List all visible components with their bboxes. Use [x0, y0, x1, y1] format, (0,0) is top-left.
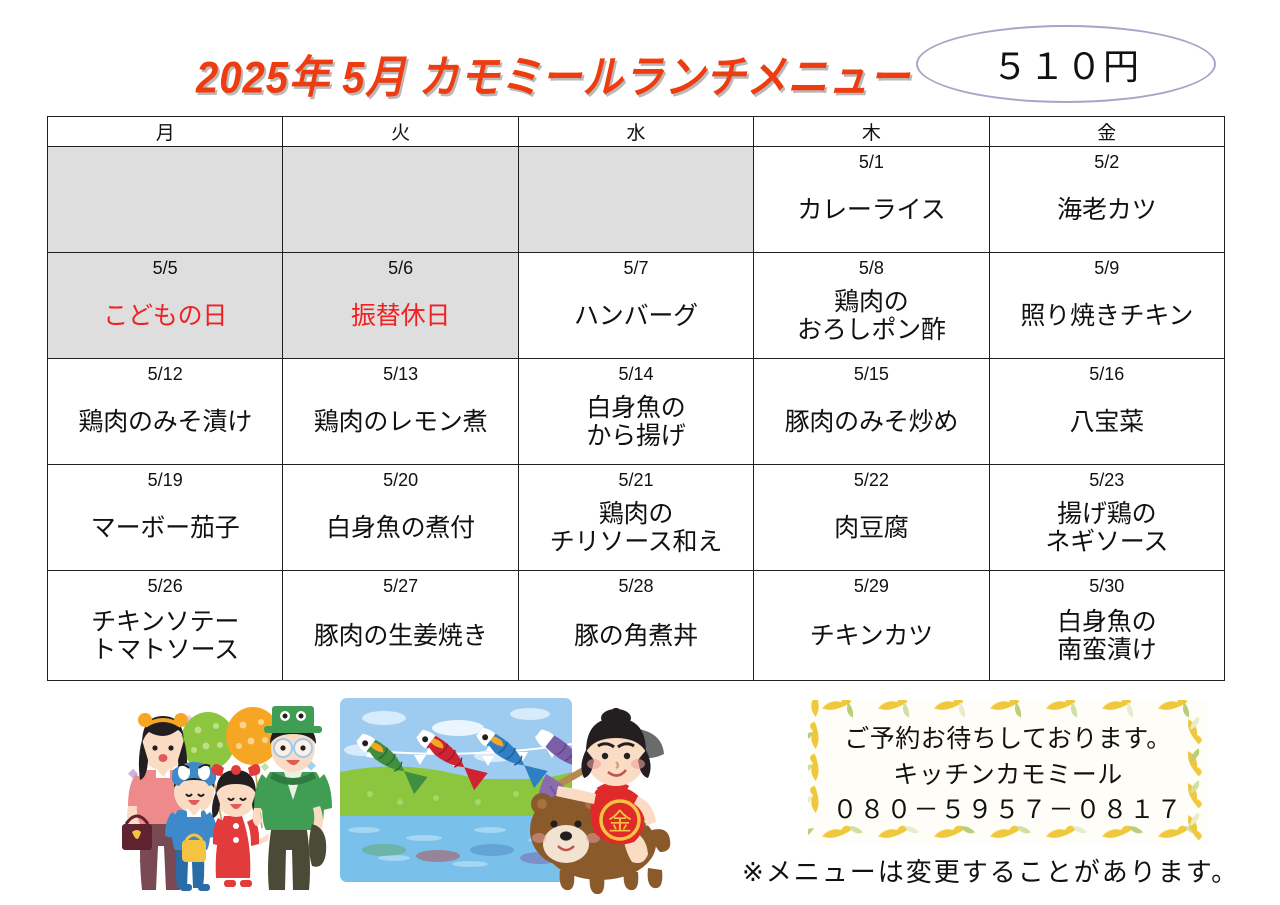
calendar-cell[interactable]: 5/19マーボー茄子 — [48, 465, 283, 571]
calendar-cell[interactable]: 5/30白身魚の 南蛮漬け — [989, 571, 1224, 681]
calendar-cell[interactable]: 5/6振替休日 — [283, 253, 518, 359]
page-title: 2025年 5月 カモミールランチメニュー — [196, 41, 910, 106]
calendar-week-row: 5/1カレーライス5/2海老カツ — [48, 147, 1225, 253]
contact-line-1: ご予約お待ちしております。 — [814, 722, 1202, 758]
date-label: 5/7 — [519, 253, 753, 279]
dish-name: チキンカツ — [754, 597, 988, 680]
family-with-balloons-icon — [112, 700, 342, 896]
calendar-cell[interactable] — [518, 147, 753, 253]
dish-name: 揚げ鶏の ネギソース — [990, 491, 1224, 570]
calendar-cell-inner: 5/29チキンカツ — [754, 571, 988, 680]
calendar-cell[interactable]: 5/27豚肉の生姜焼き — [283, 571, 518, 681]
calendar-cell-inner: 5/7ハンバーグ — [519, 253, 753, 358]
weekday-header-tue: 火 — [283, 117, 518, 147]
date-label: 5/14 — [519, 359, 753, 385]
calendar-cell[interactable]: 5/28豚の角煮丼 — [518, 571, 753, 681]
calendar-cell-inner — [283, 147, 517, 252]
date-label: 5/30 — [990, 571, 1224, 597]
date-label: 5/26 — [48, 571, 282, 597]
weekday-header-row: 月 火 水 木 金 — [48, 117, 1225, 147]
dish-name — [283, 173, 517, 252]
price-badge: ５１０円 — [916, 25, 1216, 103]
contact-line-2: キッチンカモミール — [814, 758, 1202, 794]
calendar-cell[interactable] — [48, 147, 283, 253]
calendar-cell[interactable]: 5/15豚肉のみそ炒め — [754, 359, 989, 465]
contact-text-block: ご予約お待ちしております。 キッチンカモミール ０８０－５９５７－０８１７ — [814, 722, 1202, 829]
calendar-cell[interactable]: 5/9照り焼きチキン — [989, 253, 1224, 359]
dish-name — [519, 173, 753, 252]
calendar-cell[interactable]: 5/7ハンバーグ — [518, 253, 753, 359]
calendar-cell[interactable]: 5/1カレーライス — [754, 147, 989, 253]
dish-name: 鶏肉のレモン煮 — [283, 385, 517, 464]
dish-name: カレーライス — [754, 173, 988, 252]
date-label — [48, 147, 282, 173]
date-label: 5/15 — [754, 359, 988, 385]
calendar-cell[interactable]: 5/5こどもの日 — [48, 253, 283, 359]
calendar-cell-inner: 5/9照り焼きチキン — [990, 253, 1224, 358]
calendar-cell-inner: 5/23揚げ鶏の ネギソース — [990, 465, 1224, 570]
dish-name: 豚肉の生姜焼き — [283, 597, 517, 680]
date-label: 5/29 — [754, 571, 988, 597]
date-label: 5/16 — [990, 359, 1224, 385]
dish-name: 鶏肉のみそ漬け — [48, 385, 282, 464]
date-label: 5/22 — [754, 465, 988, 491]
calendar-week-row: 5/12鶏肉のみそ漬け5/13鶏肉のレモン煮5/14白身魚の から揚げ5/15豚… — [48, 359, 1225, 465]
calendar-cell[interactable]: 5/26チキンソテー トマトソース — [48, 571, 283, 681]
calendar-cell[interactable]: 5/2海老カツ — [989, 147, 1224, 253]
calendar-cell[interactable] — [283, 147, 518, 253]
calendar-cell-inner: 5/1カレーライス — [754, 147, 988, 252]
date-label: 5/9 — [990, 253, 1224, 279]
calendar-cell-inner: 5/30白身魚の 南蛮漬け — [990, 571, 1224, 680]
calendar-cell-inner: 5/19マーボー茄子 — [48, 465, 282, 570]
calendar-cell[interactable]: 5/14白身魚の から揚げ — [518, 359, 753, 465]
calendar-cell[interactable]: 5/12鶏肉のみそ漬け — [48, 359, 283, 465]
calendar-cell-inner: 5/26チキンソテー トマトソース — [48, 571, 282, 680]
date-label: 5/6 — [283, 253, 517, 279]
date-label: 5/1 — [754, 147, 988, 173]
dish-name: 白身魚の煮付 — [283, 491, 517, 570]
calendar-cell[interactable]: 5/8鶏肉の おろしポン酢 — [754, 253, 989, 359]
calendar-cell[interactable]: 5/22肉豆腐 — [754, 465, 989, 571]
dish-name: 八宝菜 — [990, 385, 1224, 464]
calendar-cell-inner: 5/13鶏肉のレモン煮 — [283, 359, 517, 464]
lunch-menu-calendar: 月 火 水 木 金 5/1カレーライス5/2海老カツ5/5こどもの日5/6振替休… — [47, 116, 1225, 681]
calendar-cell-inner: 5/12鶏肉のみそ漬け — [48, 359, 282, 464]
dish-name: 肉豆腐 — [754, 491, 988, 570]
calendar-cell-inner: 5/22肉豆腐 — [754, 465, 988, 570]
date-label: 5/21 — [519, 465, 753, 491]
dish-name: チキンソテー トマトソース — [48, 597, 282, 680]
dish-name: 照り焼きチキン — [990, 279, 1224, 358]
date-label: 5/28 — [519, 571, 753, 597]
calendar-cell[interactable]: 5/20白身魚の煮付 — [283, 465, 518, 571]
date-label — [519, 147, 753, 173]
calendar-cell[interactable]: 5/13鶏肉のレモン煮 — [283, 359, 518, 465]
kintaro-bib-character: 金 — [608, 808, 632, 836]
weekday-header-thu: 木 — [754, 117, 989, 147]
calendar-cell[interactable]: 5/21鶏肉の チリソース和え — [518, 465, 753, 571]
weekday-header-fri: 金 — [989, 117, 1224, 147]
date-label: 5/5 — [48, 253, 282, 279]
menu-change-disclaimer: ※メニューは変更することがあります。 — [742, 852, 1228, 889]
price-badge-text: ５１０円 — [992, 38, 1140, 90]
calendar-week-row: 5/26チキンソテー トマトソース5/27豚肉の生姜焼き5/28豚の角煮丼5/2… — [48, 571, 1225, 681]
calendar-cell-inner: 5/28豚の角煮丼 — [519, 571, 753, 680]
calendar-cell-inner — [519, 147, 753, 252]
calendar-cell-inner: 5/27豚肉の生姜焼き — [283, 571, 517, 680]
calendar-cell-inner: 5/8鶏肉の おろしポン酢 — [754, 253, 988, 358]
calendar-cell-inner: 5/16八宝菜 — [990, 359, 1224, 464]
calendar-cell-inner: 5/20白身魚の煮付 — [283, 465, 517, 570]
calendar-cell[interactable]: 5/29チキンカツ — [754, 571, 989, 681]
dish-name — [48, 173, 282, 252]
calendar-cell-inner: 5/5こどもの日 — [48, 253, 282, 358]
dish-name: 海老カツ — [990, 173, 1224, 252]
calendar-week-row: 5/5こどもの日5/6振替休日5/7ハンバーグ5/8鶏肉の おろしポン酢5/9照… — [48, 253, 1225, 359]
page-header: 2025年 5月 カモミールランチメニュー ５１０円 — [0, 0, 1280, 112]
kintaro-riding-bear-icon: 金 — [512, 704, 682, 896]
date-label: 5/27 — [283, 571, 517, 597]
holiday-label: こどもの日 — [48, 279, 282, 358]
dish-name: 豚の角煮丼 — [519, 597, 753, 680]
contact-phone-number: ０８０－５９５７－０８１７ — [814, 793, 1202, 829]
dish-name: 豚肉のみそ炒め — [754, 385, 988, 464]
calendar-cell-inner: 5/2海老カツ — [990, 147, 1224, 252]
dish-name: 白身魚の 南蛮漬け — [990, 597, 1224, 680]
calendar-week-row: 5/19マーボー茄子5/20白身魚の煮付5/21鶏肉の チリソース和え5/22肉… — [48, 465, 1225, 571]
date-label — [283, 147, 517, 173]
date-label: 5/20 — [283, 465, 517, 491]
calendar-cell-inner: 5/15豚肉のみそ炒め — [754, 359, 988, 464]
date-label: 5/2 — [990, 147, 1224, 173]
dish-name: 白身魚の から揚げ — [519, 385, 753, 464]
calendar-cell[interactable]: 5/16八宝菜 — [989, 359, 1224, 465]
dish-name: 鶏肉の おろしポン酢 — [754, 279, 988, 358]
date-label: 5/13 — [283, 359, 517, 385]
calendar-cell-inner: 5/6振替休日 — [283, 253, 517, 358]
dish-name: ハンバーグ — [519, 279, 753, 358]
calendar-cell-inner: 5/21鶏肉の チリソース和え — [519, 465, 753, 570]
weekday-header-mon: 月 — [48, 117, 283, 147]
dish-name: 鶏肉の チリソース和え — [519, 491, 753, 570]
weekday-header-wed: 水 — [518, 117, 753, 147]
date-label: 5/19 — [48, 465, 282, 491]
date-label: 5/12 — [48, 359, 282, 385]
calendar-body: 5/1カレーライス5/2海老カツ5/5こどもの日5/6振替休日5/7ハンバーグ5… — [48, 147, 1225, 681]
calendar-cell-inner — [48, 147, 282, 252]
holiday-label: 振替休日 — [283, 279, 517, 358]
date-label: 5/8 — [754, 253, 988, 279]
illustration-group: 金 — [112, 694, 672, 899]
dish-name: マーボー茄子 — [48, 491, 282, 570]
date-label: 5/23 — [990, 465, 1224, 491]
calendar-cell[interactable]: 5/23揚げ鶏の ネギソース — [989, 465, 1224, 571]
calendar-cell-inner: 5/14白身魚の から揚げ — [519, 359, 753, 464]
